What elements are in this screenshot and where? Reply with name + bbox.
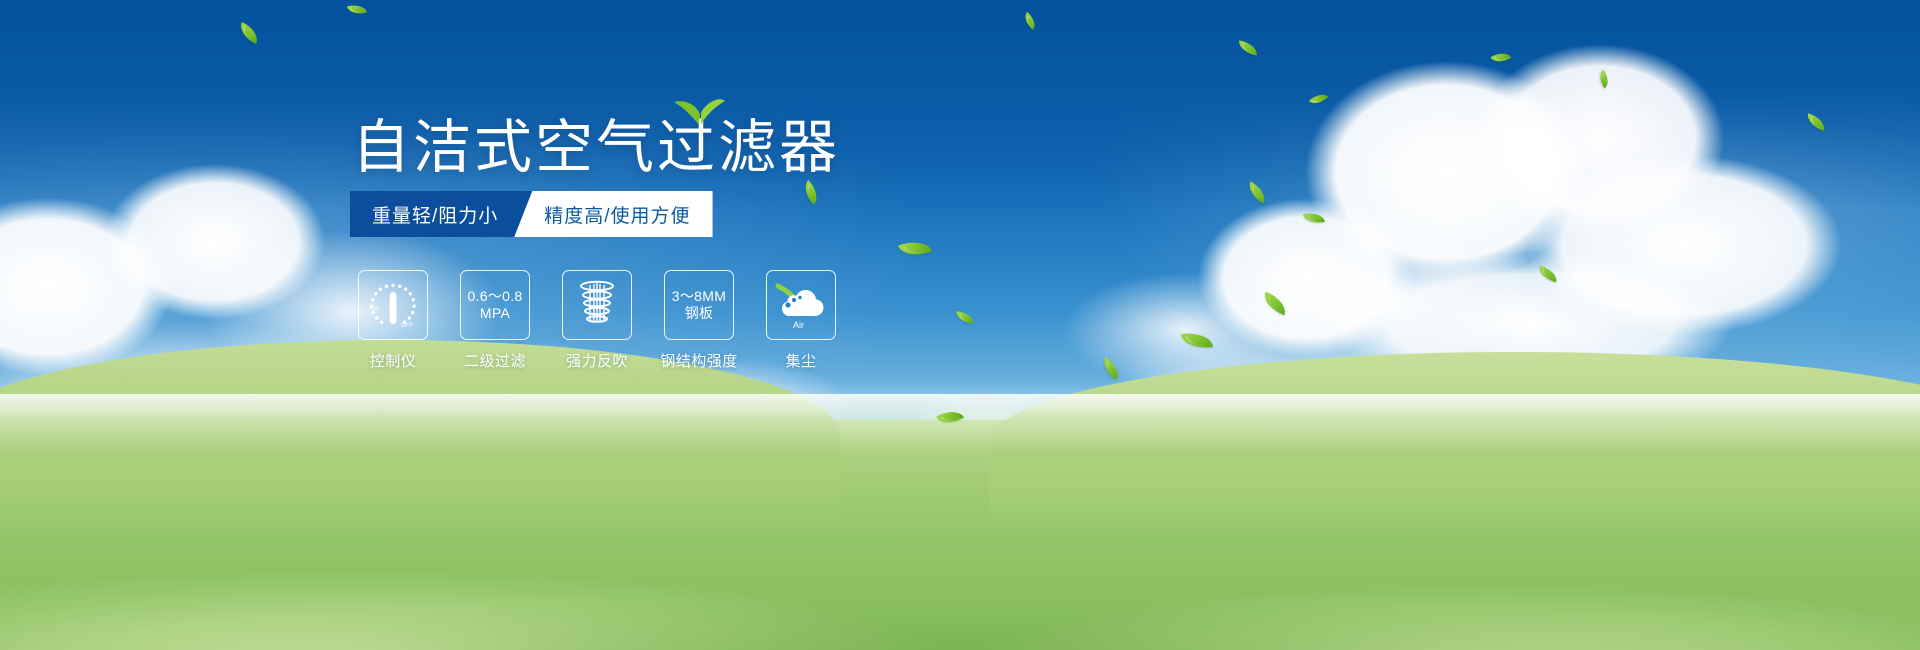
feature-icon-box: 3～8MM 钢板: [664, 270, 734, 340]
feature-caption: 强力反吹: [566, 350, 628, 371]
feature-tags: 重量轻/阻力小 精度高/使用方便: [350, 191, 713, 237]
feature-caption: 控制仪: [370, 350, 417, 371]
feature-item-dust-collection[interactable]: Air 集尘: [766, 270, 836, 371]
banner-content: 自洁式空气过滤器 重量轻/阻力小 精度高/使用方便: [0, 0, 1920, 650]
pressure-text-icon: 0.6～0.8 MPA: [467, 288, 522, 322]
feature-caption: 二级过滤: [464, 350, 526, 371]
promo-banner: 自洁式空气过滤器 重量轻/阻力小 精度高/使用方便: [0, 0, 1920, 650]
air-cloud-icon: Air: [772, 276, 830, 334]
feature-item-pressure[interactable]: 0.6～0.8 MPA 二级过滤: [460, 270, 530, 371]
steel-plate-text-icon: 3～8MM 钢板: [672, 288, 726, 322]
air-label: Air: [793, 320, 804, 330]
dial-label-no: NO: [369, 306, 379, 313]
tag-highprecision-easyuse[interactable]: 精度高/使用方便: [514, 191, 712, 237]
feature-item-controller[interactable]: NO OFF 控制仪: [358, 270, 428, 371]
steel-thickness: 3～8MM: [672, 288, 726, 305]
leaf-icon: [672, 92, 726, 126]
feature-icon-box: 0.6～0.8 MPA: [460, 270, 530, 340]
feature-item-backblow[interactable]: 强力反吹: [562, 270, 632, 371]
feature-icon-box: NO OFF: [358, 270, 428, 340]
steel-material: 钢板: [672, 305, 726, 322]
dial-label-off: OFF: [401, 323, 413, 329]
feature-item-steel-strength[interactable]: 3～8MM 钢板 钢结构强度: [664, 270, 734, 371]
page-title: 自洁式空气过滤器: [352, 116, 840, 180]
pressure-unit: MPA: [467, 305, 522, 322]
feature-icon-box: Air: [766, 270, 836, 340]
feature-list: NO OFF 控制仪 0.6～0.8 MPA 二级过滤: [358, 270, 836, 371]
gauge-dial-icon: NO OFF: [363, 275, 423, 335]
feature-caption: 集尘: [785, 350, 816, 371]
feature-caption: 钢结构强度: [660, 350, 738, 371]
feature-icon-box: [562, 270, 632, 340]
pressure-value: 0.6～0.8: [467, 288, 522, 305]
tag-lightweight-lowresistance[interactable]: 重量轻/阻力小: [350, 191, 532, 237]
filter-cartridge-icon: [570, 278, 624, 332]
